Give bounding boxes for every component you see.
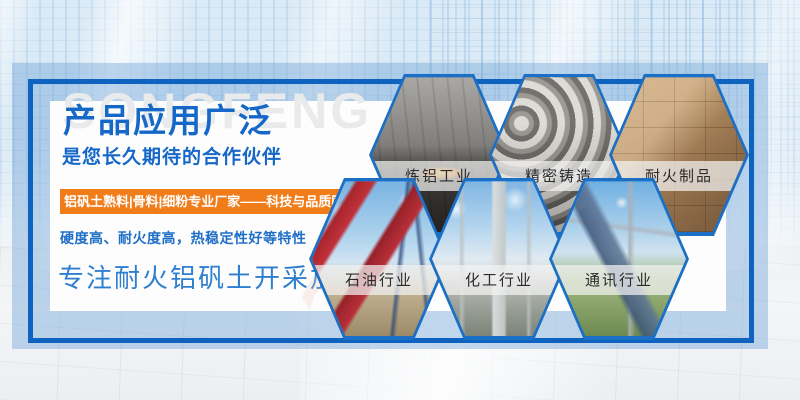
hexagon-label-band: 石油行业 [312, 265, 446, 295]
tagline-bar: 铝矾土熟料|骨料|细粉专业厂家——科技与品质同行 [60, 189, 361, 214]
tagline-text: 铝矾土熟料|骨料|细粉专业厂家——科技与品质同行 [64, 195, 357, 208]
feature-text: 硬度高、耐火度高，热稳定性好等特性 [60, 231, 307, 245]
hexagon-label-band: 通讯行业 [552, 265, 686, 295]
hexagon-label-text: 通讯行业 [585, 273, 653, 288]
hexagon-label-text: 石油行业 [345, 273, 413, 288]
headline: 产品应用广泛 [63, 104, 273, 137]
hexagon-label-text: 化工行业 [465, 273, 533, 288]
hexagon-label-band: 化工行业 [432, 265, 566, 295]
promotional-banner: SONGFENG 产品应用广泛 是您长久期待的合作伙伴 铝矾土熟料|骨料|细粉专… [0, 0, 800, 400]
subheadline: 是您长久期待的合作伙伴 [62, 148, 282, 167]
